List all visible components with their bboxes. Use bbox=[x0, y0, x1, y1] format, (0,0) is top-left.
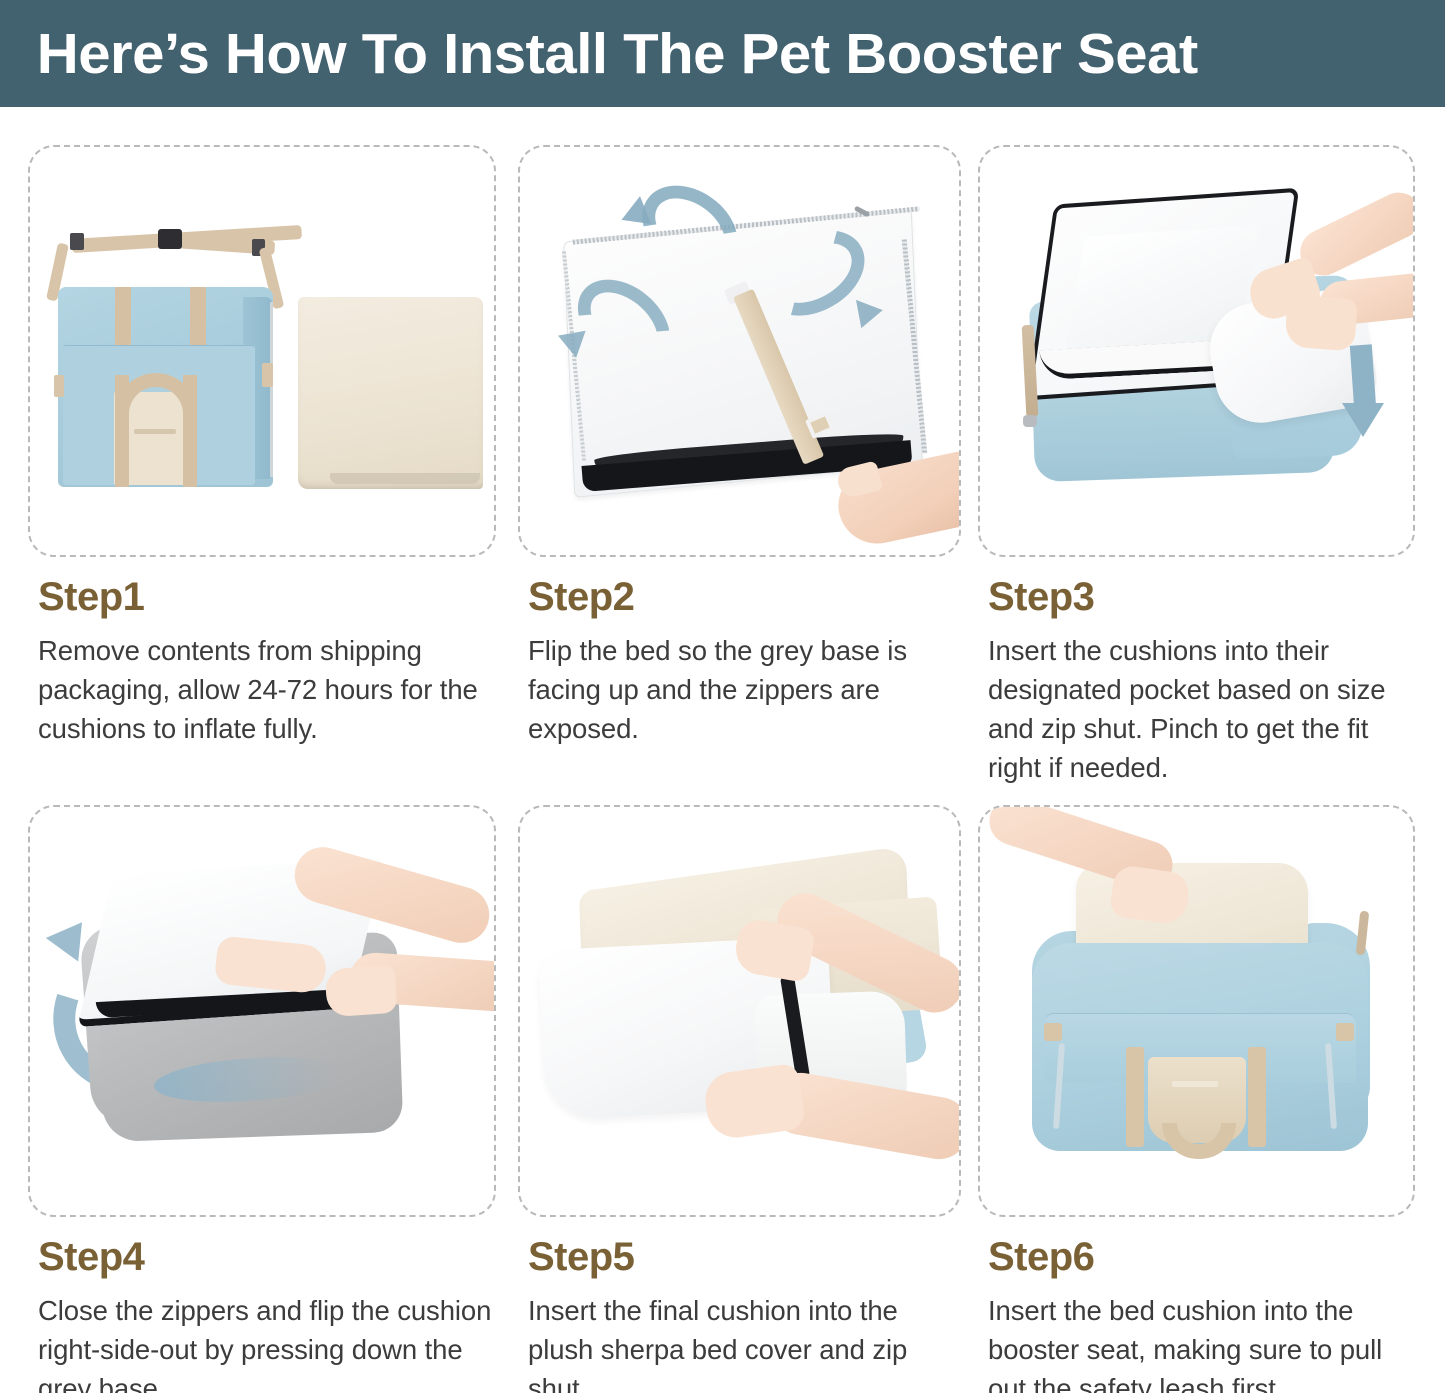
bag-tab-right bbox=[262, 363, 273, 387]
strap-clip-left-icon bbox=[70, 233, 84, 250]
insert-cushion-art bbox=[980, 147, 1413, 555]
step-5-caption: Step5 Insert the final cushion into the … bbox=[518, 1217, 961, 1393]
strap-buckle-icon bbox=[158, 229, 182, 249]
bag-vertical-strap-right bbox=[190, 287, 206, 349]
sherpa-cover-art bbox=[520, 807, 959, 1215]
flip-grey-base-art bbox=[30, 807, 494, 1215]
step-3-illustration bbox=[978, 145, 1415, 557]
step-3-text: Insert the cushions into their designate… bbox=[978, 619, 1415, 787]
bag-and-blanket-art bbox=[30, 147, 494, 555]
step-2-label: Step2 bbox=[518, 575, 961, 619]
flip-base-art bbox=[520, 147, 959, 555]
step-card-4: Step4 Close the zippers and flip the cus… bbox=[28, 805, 496, 1393]
blanket-fold-shadow bbox=[330, 473, 480, 484]
safety-leash-tab-left bbox=[1044, 1023, 1062, 1041]
bag-tab-left bbox=[54, 375, 64, 397]
seat-handle-arc bbox=[1162, 1123, 1236, 1159]
step-4-label: Step4 bbox=[28, 1235, 496, 1279]
step-card-5: Step5 Insert the final cushion into the … bbox=[518, 805, 961, 1393]
step-2-text: Flip the bed so the grey base is facing … bbox=[518, 619, 961, 748]
step-6-caption: Step6 Insert the bed cushion into the bo… bbox=[978, 1217, 1415, 1393]
step-5-illustration bbox=[518, 805, 961, 1217]
step-6-text: Insert the bed cushion into the booster … bbox=[978, 1279, 1415, 1393]
step-6-illustration bbox=[978, 805, 1415, 1217]
seat-handle-right bbox=[1248, 1047, 1266, 1147]
step-2-caption: Step2 Flip the bed so the grey base is f… bbox=[518, 557, 961, 748]
step-4-text: Close the zippers and flip the cushion r… bbox=[28, 1279, 496, 1393]
seat-handle-left bbox=[1126, 1047, 1144, 1147]
step-1-text: Remove contents from shipping packaging,… bbox=[28, 619, 496, 748]
folded-sherpa-blanket bbox=[298, 297, 483, 489]
finished-seat-art bbox=[980, 807, 1413, 1215]
step-2-illustration bbox=[518, 145, 961, 557]
step-4-illustration bbox=[28, 805, 496, 1217]
page-title: Here’s How To Install The Pet Booster Se… bbox=[0, 21, 1198, 87]
safety-leash-tab-right bbox=[1336, 1023, 1354, 1041]
insert-arrow-shaft bbox=[1350, 344, 1376, 409]
infographic-page: Here’s How To Install The Pet Booster Se… bbox=[0, 0, 1445, 1393]
step-5-text: Insert the final cushion into the plush … bbox=[518, 1279, 961, 1393]
step-1-caption: Step1 Remove contents from shipping pack… bbox=[28, 557, 496, 748]
brand-logo-mark bbox=[1172, 1081, 1218, 1087]
step-card-6: Step6 Insert the bed cushion into the bo… bbox=[978, 805, 1415, 1393]
step-3-label: Step3 bbox=[978, 575, 1415, 619]
step-5-label: Step5 bbox=[518, 1235, 961, 1279]
hand-holding-edge bbox=[324, 965, 397, 1018]
step-1-illustration bbox=[28, 145, 496, 557]
step-4-caption: Step4 Close the zippers and flip the cus… bbox=[28, 1217, 496, 1393]
step-card-2: Step2 Flip the bed so the grey base is f… bbox=[518, 145, 961, 748]
steps-grid: Step1 Remove contents from shipping pack… bbox=[0, 107, 1445, 1393]
seat-zipper-pull bbox=[1356, 911, 1370, 956]
hand-lower bbox=[1284, 295, 1357, 352]
step-card-1: Step1 Remove contents from shipping pack… bbox=[28, 145, 496, 748]
flip-arrow-head-left bbox=[558, 331, 590, 360]
page-header: Here’s How To Install The Pet Booster Se… bbox=[0, 0, 1445, 107]
bag-zipper bbox=[270, 302, 273, 477]
step-6-label: Step6 bbox=[978, 1235, 1415, 1279]
zipper-slider-icon bbox=[1023, 415, 1037, 427]
step-card-3: Step3 Insert the cushions into their des… bbox=[978, 145, 1415, 787]
insert-arrow-head bbox=[1342, 403, 1384, 437]
step-1-label: Step1 bbox=[28, 575, 496, 619]
bag-vertical-strap-left bbox=[115, 287, 131, 349]
step-3-caption: Step3 Insert the cushions into their des… bbox=[978, 557, 1415, 787]
